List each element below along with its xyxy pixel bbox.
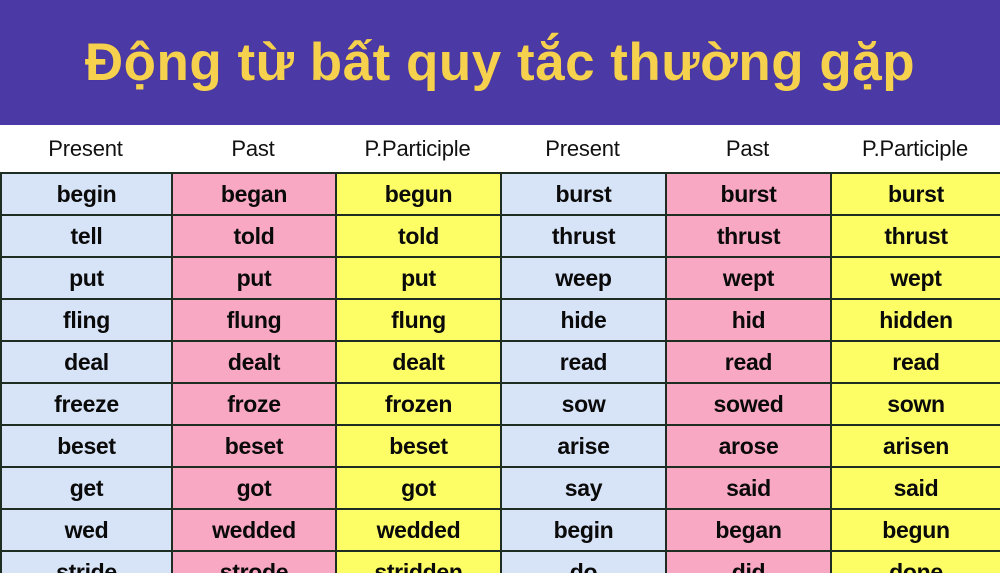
cell-present-left: tell (1, 215, 172, 257)
table-row: stride strode stridden do did done (1, 551, 1000, 573)
table-row: freeze froze frozen sow sowed sown (1, 383, 1000, 425)
cell-participle-left: stridden (336, 551, 501, 573)
cell-present-right: sow (501, 383, 666, 425)
cell-participle-left: told (336, 215, 501, 257)
cell-past-right: read (666, 341, 831, 383)
cell-present-left: put (1, 257, 172, 299)
cell-past-right: arose (666, 425, 831, 467)
cell-present-left: deal (1, 341, 172, 383)
cell-present-left: freeze (1, 383, 172, 425)
page-root: Động từ bất quy tắc thường gặp Present P… (0, 0, 1000, 573)
cell-present-left: get (1, 467, 172, 509)
column-header-past-right: Past (665, 125, 830, 172)
cell-participle-right: arisen (831, 425, 1000, 467)
cell-present-right: thrust (501, 215, 666, 257)
cell-present-right: read (501, 341, 666, 383)
cell-present-left: wed (1, 509, 172, 551)
title-banner: Động từ bất quy tắc thường gặp (0, 0, 1000, 125)
table-row: put put put weep wept wept (1, 257, 1000, 299)
cell-present-left: beset (1, 425, 172, 467)
cell-past-right: did (666, 551, 831, 573)
cell-present-left: begin (1, 173, 172, 215)
table-row: get got got say said said (1, 467, 1000, 509)
column-header-participle-left: P.Participle (335, 125, 500, 172)
cell-past-right: said (666, 467, 831, 509)
cell-past-left: wedded (172, 509, 336, 551)
table-row: beset beset beset arise arose arisen (1, 425, 1000, 467)
cell-participle-left: put (336, 257, 501, 299)
cell-participle-right: begun (831, 509, 1000, 551)
column-header-past-left: Past (171, 125, 335, 172)
cell-participle-left: wedded (336, 509, 501, 551)
cell-past-left: strode (172, 551, 336, 573)
cell-participle-left: frozen (336, 383, 501, 425)
cell-past-left: told (172, 215, 336, 257)
cell-participle-right: read (831, 341, 1000, 383)
cell-present-right: begin (501, 509, 666, 551)
cell-past-right: hid (666, 299, 831, 341)
table-row: tell told told thrust thrust thrust (1, 215, 1000, 257)
cell-past-right: wept (666, 257, 831, 299)
cell-past-left: put (172, 257, 336, 299)
cell-participle-right: sown (831, 383, 1000, 425)
column-header-present-left: Present (0, 125, 171, 172)
cell-participle-left: beset (336, 425, 501, 467)
cell-past-left: flung (172, 299, 336, 341)
column-header-strip: Present Past P.Participle Present Past P… (0, 125, 1000, 172)
cell-past-left: beset (172, 425, 336, 467)
cell-past-right: began (666, 509, 831, 551)
column-header-present-right: Present (500, 125, 665, 172)
cell-past-right: thrust (666, 215, 831, 257)
cell-present-right: arise (501, 425, 666, 467)
cell-past-left: froze (172, 383, 336, 425)
cell-past-left: began (172, 173, 336, 215)
cell-present-right: say (501, 467, 666, 509)
cell-present-right: burst (501, 173, 666, 215)
table-row: begin began begun burst burst burst (1, 173, 1000, 215)
cell-past-right: sowed (666, 383, 831, 425)
table-body: begin began begun burst burst burst tell… (1, 173, 1000, 573)
cell-present-left: stride (1, 551, 172, 573)
table-row: deal dealt dealt read read read (1, 341, 1000, 383)
cell-present-left: fling (1, 299, 172, 341)
cell-present-right: do (501, 551, 666, 573)
page-title: Động từ bất quy tắc thường gặp (85, 36, 915, 89)
table-row: wed wedded wedded begin began begun (1, 509, 1000, 551)
cell-participle-right: done (831, 551, 1000, 573)
cell-present-right: hide (501, 299, 666, 341)
irregular-verbs-table: begin began begun burst burst burst tell… (0, 172, 1000, 573)
column-header-participle-right: P.Participle (830, 125, 1000, 172)
cell-participle-left: flung (336, 299, 501, 341)
cell-past-left: dealt (172, 341, 336, 383)
cell-past-right: burst (666, 173, 831, 215)
cell-participle-right: hidden (831, 299, 1000, 341)
cell-participle-left: dealt (336, 341, 501, 383)
table-row: fling flung flung hide hid hidden (1, 299, 1000, 341)
cell-present-right: weep (501, 257, 666, 299)
cell-participle-right: thrust (831, 215, 1000, 257)
cell-participle-right: said (831, 467, 1000, 509)
irregular-verbs-table-wrapper: begin began begun burst burst burst tell… (0, 172, 1000, 573)
cell-participle-right: burst (831, 173, 1000, 215)
cell-participle-right: wept (831, 257, 1000, 299)
cell-participle-left: got (336, 467, 501, 509)
cell-participle-left: begun (336, 173, 501, 215)
cell-past-left: got (172, 467, 336, 509)
